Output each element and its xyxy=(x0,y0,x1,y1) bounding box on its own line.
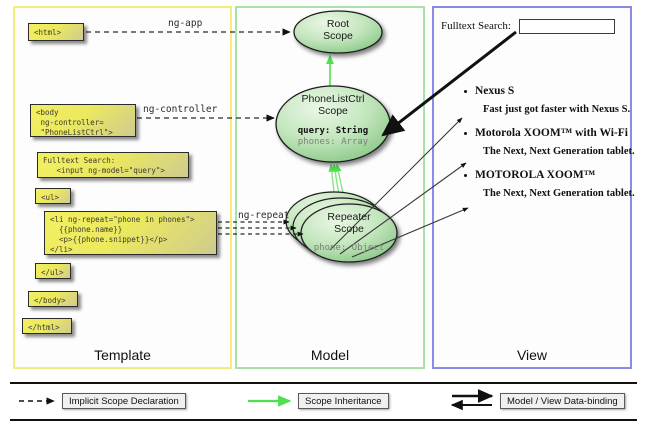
legend-label-model-view-data-binding: Model / View Data-binding xyxy=(500,393,625,409)
legend-label-implicit-scope-declaration: Implicit Scope Declaration xyxy=(62,393,186,409)
legend-label-scope-inheritance: Scope Inheritance xyxy=(298,393,389,409)
legend-glyph-model-view-data-binding xyxy=(452,396,492,405)
legend-glyph-layer xyxy=(0,0,645,425)
angularjs-scope-diagram: Template Model View xyxy=(0,0,645,425)
